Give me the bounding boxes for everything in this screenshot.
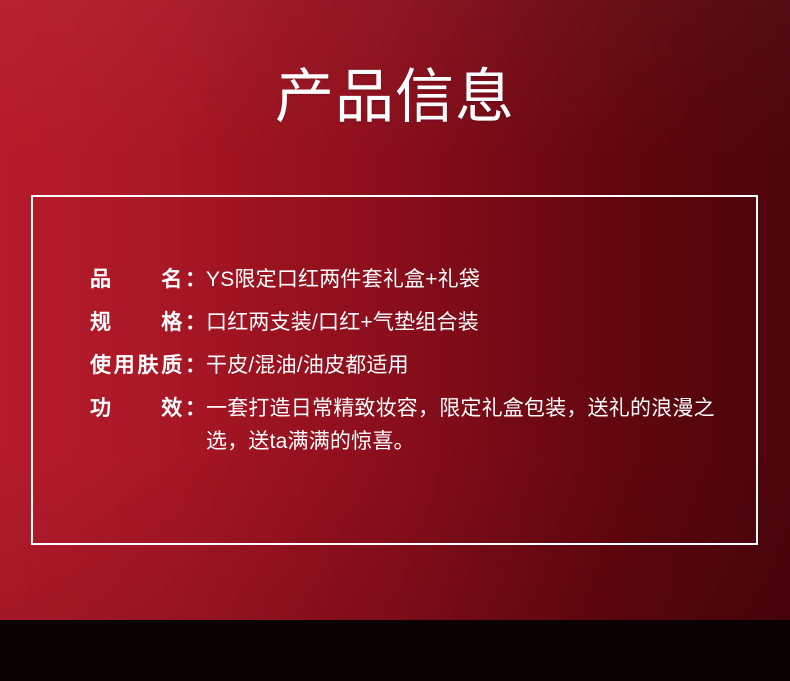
page-title: 产品信息 [0, 68, 790, 127]
spec-value-product-name: YS限定口红两件套礼盒+礼袋 [206, 263, 726, 296]
spec-row-effect: 功 效： 一套打造日常精致妆容，限定礼盒包装，送礼的浪漫之选，送ta满满的惊喜。 [90, 392, 736, 458]
spec-value-skin-type: 干皮/混油/油皮都适用 [206, 349, 726, 382]
spec-label-product-name: 品 名： [90, 263, 206, 296]
product-info-page: 产品信息 品 名： YS限定口红两件套礼盒+礼袋 规 格： 口红两支装/口红+气… [0, 0, 790, 681]
spec-value-specification: 口红两支装/口红+气垫组合装 [206, 306, 726, 339]
spec-list: 品 名： YS限定口红两件套礼盒+礼袋 规 格： 口红两支装/口红+气垫组合装 … [90, 263, 736, 458]
product-info-card: 品 名： YS限定口红两件套礼盒+礼袋 规 格： 口红两支装/口红+气垫组合装 … [31, 195, 758, 545]
spec-label-specification: 规 格： [90, 306, 206, 339]
spec-value-effect: 一套打造日常精致妆容，限定礼盒包装，送礼的浪漫之选，送ta满满的惊喜。 [206, 392, 726, 458]
spec-label-effect: 功 效： [90, 392, 206, 425]
spec-label-skin-type: 使用肤质： [90, 349, 206, 382]
spec-row-skin-type: 使用肤质： 干皮/混油/油皮都适用 [90, 349, 736, 382]
spec-row-specification: 规 格： 口红两支装/口红+气垫组合装 [90, 306, 736, 339]
bottom-black-strip [0, 620, 790, 681]
spec-row-product-name: 品 名： YS限定口红两件套礼盒+礼袋 [90, 263, 736, 296]
